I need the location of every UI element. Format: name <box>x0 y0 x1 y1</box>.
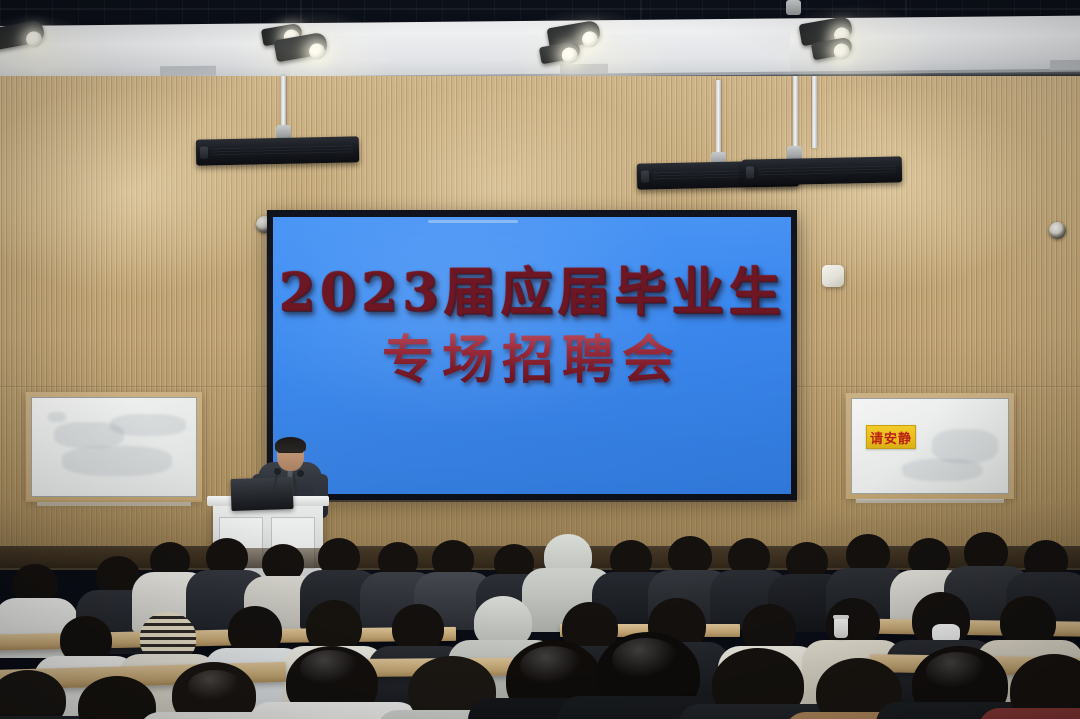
whiteboard-surface: 请安静 <box>851 398 1009 494</box>
presenter-glasses-icon <box>278 452 303 457</box>
lecture-hall-photo: 请安静 2023届应届毕业生 专场招聘会 <box>0 0 1080 719</box>
drink-cup-lid <box>833 615 849 619</box>
drink-cup <box>834 618 848 638</box>
speaker-pole <box>716 80 721 158</box>
speaker-pole <box>281 76 286 129</box>
presenter-hair <box>275 437 306 453</box>
whiteboard-surface <box>31 397 197 497</box>
please-be-quiet-sign: 请安静 <box>866 425 916 449</box>
ceiling-speaker <box>742 156 903 185</box>
ceiling-speaker <box>196 136 360 165</box>
microphone-head-icon <box>274 468 281 475</box>
speaker-pole <box>793 76 798 150</box>
soffit-notch <box>1050 60 1080 70</box>
wall-sensor-icon <box>1049 222 1066 239</box>
speaker-mount-hidden <box>786 0 801 15</box>
soffit-notch <box>560 64 608 74</box>
audience-head <box>392 604 444 652</box>
projector-screen-surface: 2023届应届毕业生 专场招聘会 <box>273 217 791 494</box>
screen-headline-line1: 2023届应届毕业生 <box>273 265 791 321</box>
ceiling-beam <box>0 8 1080 10</box>
whiteboard-right: 请安静 <box>846 393 1014 499</box>
podium-monitor[interactable] <box>230 477 293 511</box>
speaker-pole <box>812 76 817 148</box>
audience-head <box>172 662 256 719</box>
screen-headline-line2: 专场招聘会 <box>273 333 791 389</box>
wall-device-icon <box>822 265 844 287</box>
audience-area: LONG <box>0 520 1080 719</box>
screen-highlight <box>428 220 518 223</box>
soffit-notch <box>160 66 216 76</box>
whiteboard-left <box>26 392 202 502</box>
projector-screen[interactable]: 2023届应届毕业生 专场招聘会 <box>267 210 797 502</box>
microphone-head-icon <box>297 470 304 477</box>
audience-body <box>978 708 1080 719</box>
screen-text-block: 2023届应届毕业生 专场招聘会 <box>273 265 791 389</box>
